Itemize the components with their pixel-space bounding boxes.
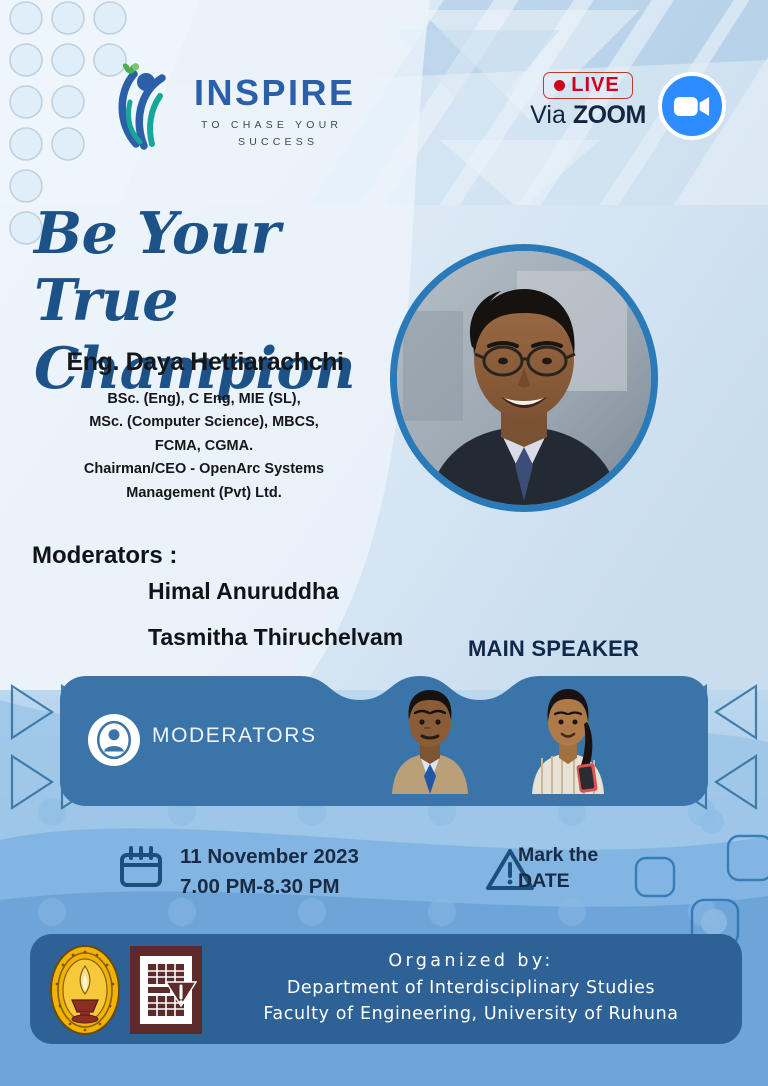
person-avatar-icon bbox=[88, 714, 140, 766]
inspire-wordmark: INSPIRE bbox=[194, 72, 356, 113]
inspire-tagline-2: SUCCESS bbox=[238, 136, 318, 148]
credential-line: BSc. (Eng), C Eng, MIE (SL), bbox=[34, 388, 374, 411]
event-datetime: 11 November 2023 7.00 PM-8.30 PM bbox=[180, 842, 359, 903]
main-speaker-label: MAIN SPEAKER bbox=[468, 636, 639, 662]
moderator-name-1: Himal Anuruddha bbox=[148, 578, 339, 605]
title-line-1: Be Your True bbox=[34, 200, 434, 335]
zoom-word: ZOOM bbox=[573, 101, 646, 129]
moderator-photo-2 bbox=[524, 684, 612, 794]
organizer-department: Department of Interdisciplinary Studies bbox=[215, 975, 727, 1002]
live-dot-icon bbox=[554, 80, 565, 91]
moderator-name-2: Tasmitha Thiruchelvam bbox=[148, 624, 403, 651]
inspire-logo: INSPIRE TO CHASE YOUR SUCCESS bbox=[100, 62, 375, 157]
moderator-photo-1 bbox=[386, 684, 474, 794]
inspire-tagline-1: TO CHASE YOUR bbox=[201, 119, 342, 131]
university-of-ruhuna-crest-icon bbox=[48, 944, 122, 1036]
main-speaker-photo bbox=[390, 244, 658, 512]
poster-header: INSPIRE TO CHASE YOUR SUCCESS LIVE Via Z… bbox=[0, 0, 768, 200]
credential-line: FCMA, CGMA. bbox=[34, 435, 374, 458]
live-badge: LIVE bbox=[543, 72, 632, 99]
mark-line-2: DATE bbox=[518, 869, 598, 895]
credential-line: MSc. (Computer Science), MBCS, bbox=[34, 411, 374, 434]
moderators-heading: Moderators : bbox=[32, 542, 177, 570]
organized-by-label: Organized by: bbox=[215, 948, 727, 975]
inspire-figure-logo bbox=[122, 63, 162, 146]
mark-the-date-text: Mark the DATE bbox=[518, 843, 598, 894]
live-label: LIVE bbox=[571, 75, 619, 95]
event-date: 11 November 2023 bbox=[180, 842, 359, 872]
speaker-credentials: BSc. (Eng), C Eng, MIE (SL), MSc. (Compu… bbox=[34, 388, 374, 505]
credential-line: Chairman/CEO - OpenArc Systems bbox=[34, 458, 374, 481]
faculty-of-engineering-logo-icon bbox=[130, 946, 202, 1034]
calendar-icon bbox=[118, 845, 164, 891]
event-poster: INSPIRE TO CHASE YOUR SUCCESS LIVE Via Z… bbox=[0, 0, 768, 1086]
event-time: 7.00 PM-8.30 PM bbox=[180, 872, 359, 902]
organizer-faculty: Faculty of Engineering, University of Ru… bbox=[215, 1001, 727, 1028]
via-zoom-text: Via ZOOM bbox=[512, 102, 664, 130]
zoom-video-camera-icon bbox=[658, 72, 726, 140]
moderators-band-label: MODERATORS bbox=[152, 724, 317, 748]
organizer-text: Organized by: Department of Interdiscipl… bbox=[215, 948, 727, 1028]
via-word: Via bbox=[530, 101, 573, 129]
credential-line: Management (Pvt) Ltd. bbox=[34, 482, 374, 505]
speaker-name: Eng. Daya Hettiarachchi bbox=[30, 348, 380, 377]
live-via-zoom-block: LIVE Via ZOOM bbox=[512, 72, 664, 142]
mark-line-1: Mark the bbox=[518, 843, 598, 869]
